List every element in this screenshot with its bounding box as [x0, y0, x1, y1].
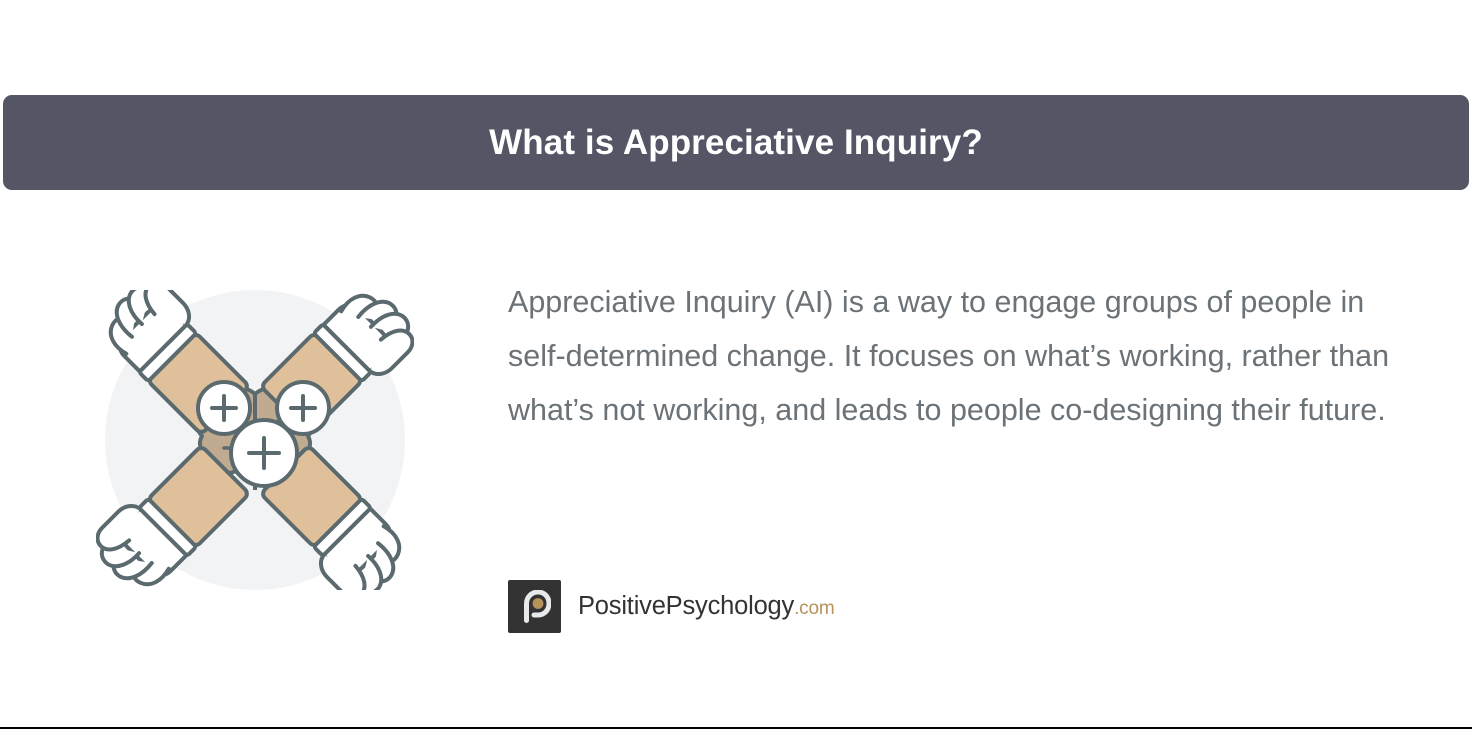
bottom-divider [0, 727, 1472, 729]
text-column: Appreciative Inquiry (AI) is a way to en… [508, 275, 1408, 437]
teamwork-brain-illustration [96, 290, 414, 590]
brand-wordmark: PositivePsychology.com [578, 594, 834, 620]
body-paragraph: Appreciative Inquiry (AI) is a way to en… [508, 275, 1398, 437]
brand-name: PositivePsychology [578, 592, 794, 620]
positivepsychology-logo-icon [508, 580, 561, 633]
brand-tld: .com [794, 598, 834, 619]
content-area: Appreciative Inquiry (AI) is a way to en… [0, 190, 1472, 727]
header-banner: What is Appreciative Inquiry? [3, 95, 1469, 190]
slide-page: What is Appreciative Inquiry? [0, 0, 1472, 735]
plus-badge-center [231, 420, 297, 486]
teamwork-brain-icon [96, 290, 414, 590]
page-title: What is Appreciative Inquiry? [489, 125, 983, 160]
logo-p-mark [518, 590, 551, 623]
brand-lockup[interactable]: PositivePsychology.com [508, 580, 834, 633]
